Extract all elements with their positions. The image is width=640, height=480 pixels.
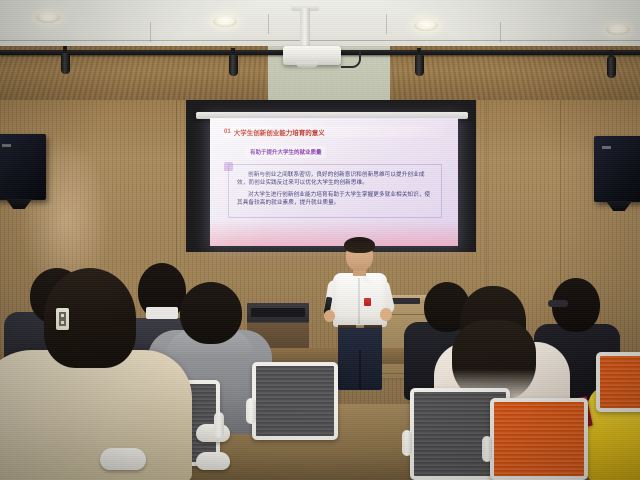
chair[interactable] — [490, 398, 588, 480]
slide-paragraph: 对大学生进行创新创业能力培育有助于大学生掌握更多就业相关知识，使其具备较高的就业… — [237, 191, 435, 207]
presenter-left-hand — [324, 310, 335, 322]
chair-back — [490, 398, 588, 480]
projector-mount-arm — [300, 8, 310, 48]
chair-tablet-arm[interactable] — [196, 452, 230, 470]
chair[interactable] — [596, 352, 640, 412]
downlight — [213, 16, 237, 27]
ceiling-seam — [0, 40, 640, 41]
presenter-trousers — [338, 328, 382, 390]
speaker-led — [2, 144, 11, 147]
chair-back — [252, 362, 338, 440]
chair[interactable] — [252, 362, 338, 440]
speaker-led — [602, 146, 611, 149]
chair-arm-post — [214, 412, 224, 438]
downlight — [606, 24, 630, 35]
chair-arm-post — [246, 398, 256, 424]
slide-subheading: 有助于提升大学生的就业质量 — [246, 146, 326, 158]
ceiling-seam — [150, 22, 151, 42]
shirt-placket — [358, 278, 360, 324]
wall-speaker-left — [0, 134, 46, 200]
presenter-badge — [364, 298, 371, 306]
chair-tablet-arm[interactable] — [100, 448, 146, 470]
slide-body: 创新与创业之间联系密切，良好的创新意识和创新思维可以提升创业成效，而创业实践反过… — [228, 164, 442, 218]
chair-arm-post — [402, 430, 412, 456]
chair-tablet-arm[interactable] — [196, 424, 230, 442]
presenter-shirt — [333, 273, 387, 327]
projector-lens — [296, 62, 318, 68]
slide-title-text: 大学生创新创业能力培育的意义 — [234, 127, 325, 137]
console-slot — [251, 308, 305, 317]
presenter-right-hand — [380, 308, 392, 321]
slide-number: 01 — [224, 129, 231, 135]
lecture-hall-photo: 01 大学生创新创业能力培育的意义 有助于提升大学生的就业质量 创新与创业之间联… — [0, 0, 640, 480]
projection-screen: 01 大学生创新创业能力培育的意义 有助于提升大学生的就业质量 创新与创业之间联… — [210, 118, 458, 246]
chair-arm-post — [482, 436, 492, 462]
track-spotlight — [61, 52, 70, 74]
ceiling-seam — [386, 14, 387, 34]
track-spotlight — [607, 56, 616, 78]
projector-cable — [341, 50, 361, 68]
downlight — [414, 20, 438, 31]
chair-back — [596, 352, 640, 412]
audience-collar — [146, 307, 178, 319]
hair-clip — [56, 308, 69, 330]
eyeglasses-icon — [548, 300, 568, 307]
audience-head — [180, 282, 242, 344]
ceiling-seam — [268, 14, 269, 34]
track-spotlight — [415, 54, 424, 76]
presenter-hair — [344, 237, 375, 253]
ceiling-seam — [500, 22, 501, 42]
slide-title-bar: 01 大学生创新创业能力培育的意义 — [224, 126, 444, 137]
downlight — [36, 12, 60, 23]
slide-paragraph: 创新与创业之间联系密切，良好的创新意识和创新思维可以提升创业成效，而创业实践反过… — [237, 171, 435, 187]
audience-body — [0, 350, 192, 480]
wall-speaker-right — [594, 136, 640, 202]
track-spotlight — [229, 54, 238, 76]
